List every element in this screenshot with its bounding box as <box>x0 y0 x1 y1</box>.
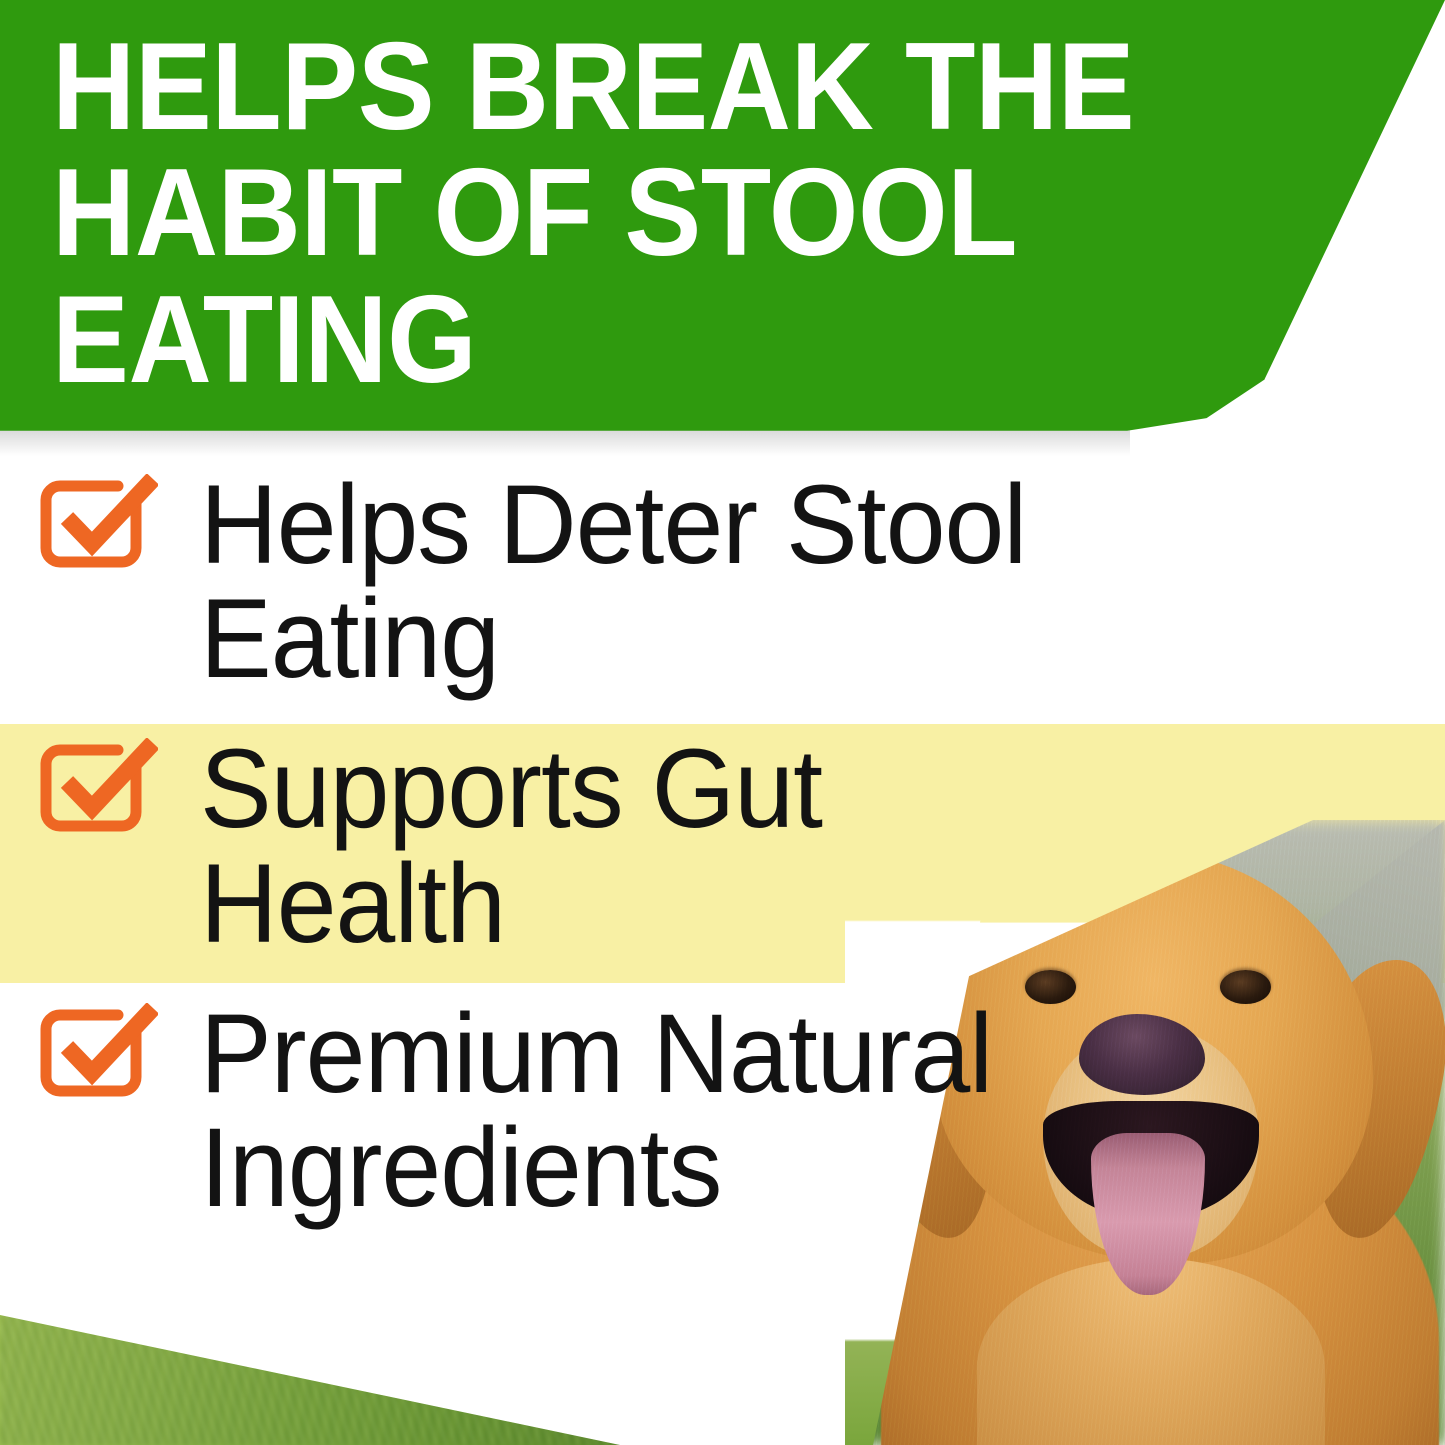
product-feature-card: HELPS BREAK THE HABIT OF STOOL EATING He… <box>0 0 1445 1445</box>
grass-corner-graphic <box>0 1315 620 1445</box>
list-item: Helps Deter Stool Eating <box>0 452 1445 696</box>
list-item-label: Supports Gut Health <box>200 732 1045 960</box>
benefits-list: Helps Deter Stool Eating Supports Gut He… <box>0 452 1445 1225</box>
checked-checkbox-icon <box>40 738 158 843</box>
list-item-label: Helps Deter Stool Eating <box>200 468 1045 696</box>
page-title: HELPS BREAK THE HABIT OF STOOL EATING <box>52 24 1215 403</box>
header-banner: HELPS BREAK THE HABIT OF STOOL EATING <box>0 0 1445 452</box>
checked-checkbox-icon <box>40 1003 158 1108</box>
list-item: Supports Gut Health <box>0 696 1445 960</box>
list-item: Premium Natural Ingredients <box>0 961 1445 1225</box>
checked-checkbox-icon <box>40 474 158 579</box>
list-item-label: Premium Natural Ingredients <box>200 997 1045 1225</box>
